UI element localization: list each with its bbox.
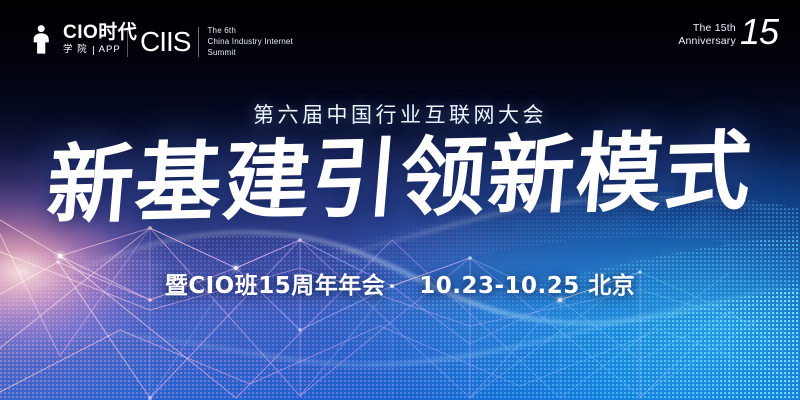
ciis-line-3: Summit [207,48,293,58]
ciis-rule [198,27,199,57]
ciis-wordmark: CIIS [140,28,190,56]
poster-header: CIO时代 学 院 APP CIIS The 6th China Industr… [0,0,800,92]
ciis-line-2: China Industry Internet [207,37,293,47]
poster-subline: 暨CIO班15周年年会 10.23-10.25 北京 [0,266,800,300]
anniversary-line-1: The 15th [693,22,736,35]
sub-date-city: 10.23-10.25 北京 [419,266,635,300]
anniversary-number: 15 [740,17,778,47]
logo-divider [127,27,128,57]
cio-logo-sep [93,46,94,55]
cio-logo-academy: 学 院 [63,45,88,55]
ciis-line-1: The 6th [207,26,293,36]
cio-logo[interactable]: CIO时代 学 院 APP [26,22,137,56]
cio-person-circle-icon [26,22,56,56]
cio-logo-app: APP [99,45,121,55]
sub-event-name: 暨CIO班15周年年会 [165,266,386,300]
ciis-logo[interactable]: CIIS The 6th China Industry Internet Sum… [140,26,293,59]
anniversary-line-2: Anniversary [678,35,736,48]
poster-headline: 新基建引领新模式 [0,128,800,231]
event-poster: CIO时代 学 院 APP CIIS The 6th China Industr… [0,0,800,400]
anniversary-badge: The 15th Anniversary 15 [678,22,778,48]
